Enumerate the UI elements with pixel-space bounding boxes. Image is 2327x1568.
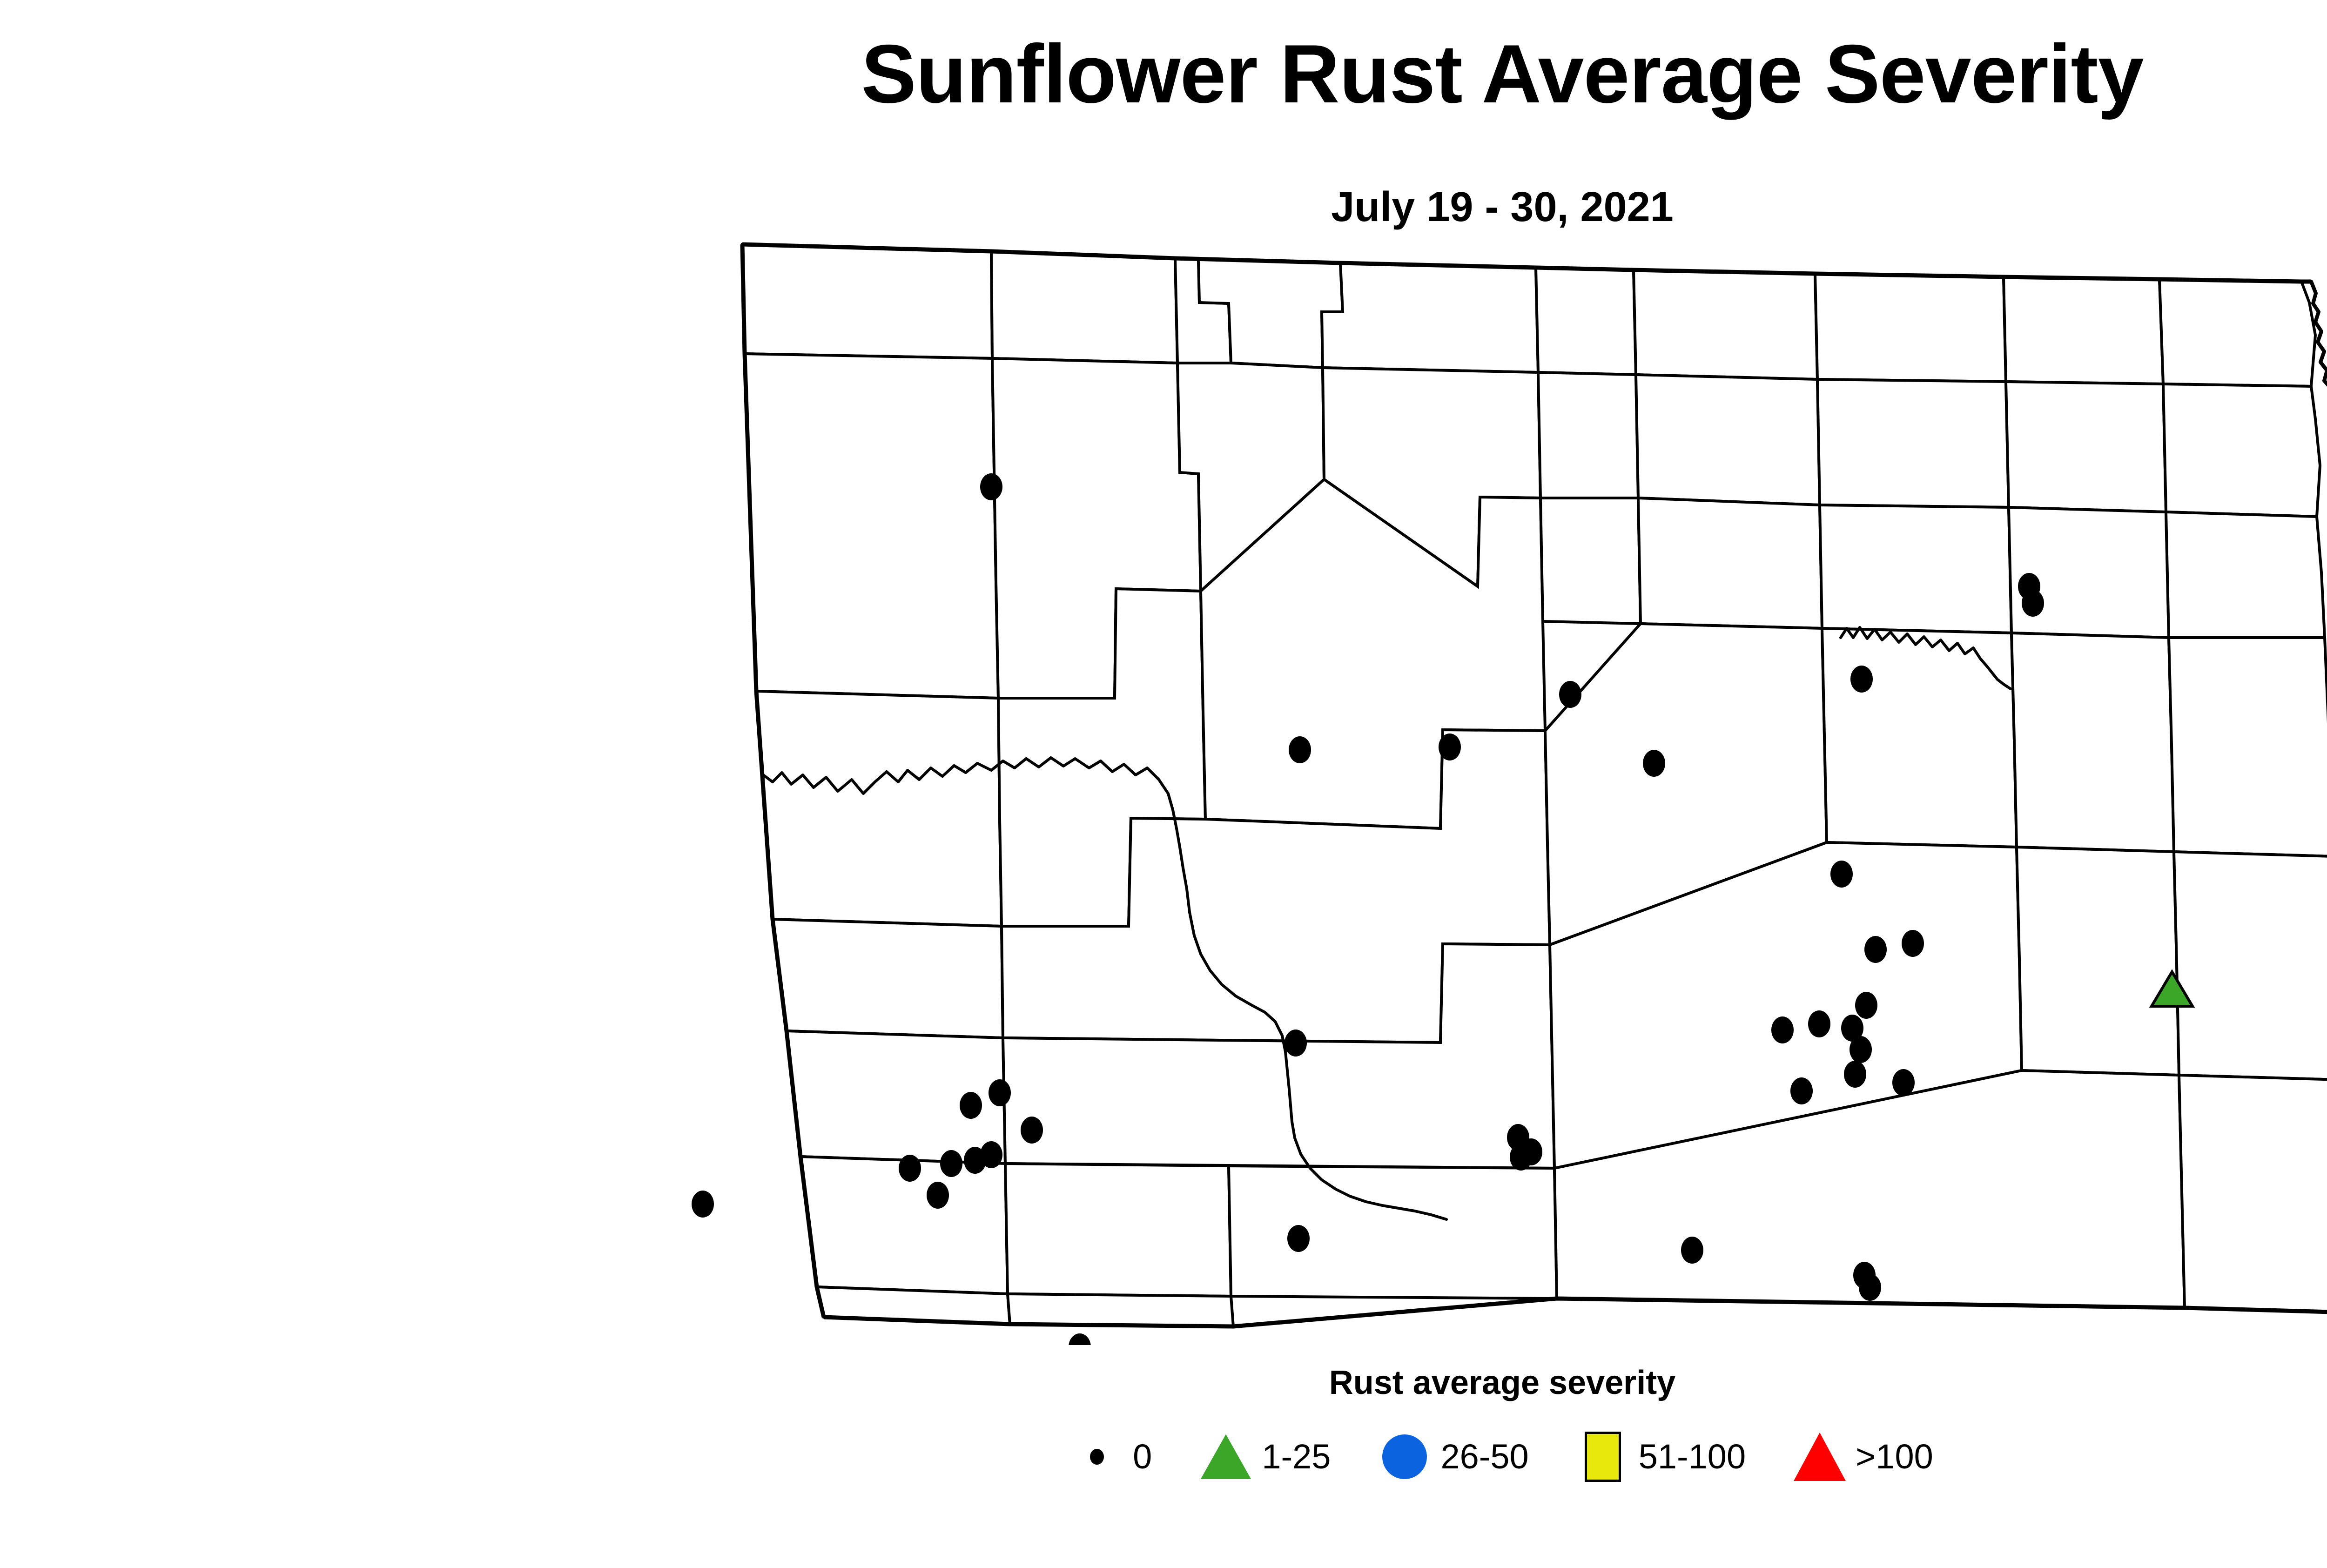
survey-point-0: [1849, 1036, 1872, 1063]
legend-label: 0: [1133, 1440, 1152, 1474]
legend-symbol: [1379, 1431, 1430, 1482]
map-svg: [0, 219, 2327, 1345]
legend-label: >100: [1856, 1440, 1933, 1474]
survey-point-0: [1439, 734, 1461, 760]
survey-point-0: [1681, 1237, 1703, 1264]
legend-item-26-50[interactable]: 26-50: [1379, 1431, 1528, 1482]
survey-point-0: [989, 1079, 1011, 1106]
survey-point-0: [692, 1191, 714, 1218]
survey-point-0: [940, 1150, 962, 1177]
legend-symbol: [1577, 1431, 1628, 1482]
legend-label: 1-25: [1262, 1440, 1331, 1474]
map-legend: Rust average severity 01-2526-5051-100>1…: [0, 1364, 2327, 1550]
survey-point-0: [1643, 750, 1665, 777]
legend-symbol: [1200, 1431, 1251, 1482]
blue-circle-icon: [1382, 1434, 1427, 1479]
yellow-square-icon: [1585, 1432, 1621, 1482]
black-dot-icon: [1090, 1449, 1104, 1465]
survey-point-0: [899, 1155, 921, 1182]
legend-items-row: 01-2526-5051-100>100: [0, 1431, 2327, 1482]
survey-point-0: [1520, 1138, 1542, 1165]
legend-item-51-100[interactable]: 51-100: [1577, 1431, 1746, 1482]
legend-item--100[interactable]: >100: [1794, 1431, 1933, 1482]
map-page: Sunflower Rust Average Severity July 19 …: [0, 0, 2327, 1568]
red-triangle-icon: [1794, 1433, 1846, 1481]
survey-point-0: [1864, 936, 1887, 963]
survey-point-0: [980, 473, 1002, 500]
legend-label: 26-50: [1440, 1440, 1528, 1474]
survey-point-0: [1287, 1225, 1310, 1252]
survey-point-0: [1850, 666, 1873, 693]
survey-point-0: [927, 1182, 949, 1209]
survey-point-0: [1559, 681, 1581, 708]
legend-symbol: [1071, 1431, 1123, 1482]
survey-point-0: [1289, 736, 1311, 763]
survey-point-0: [2022, 590, 2044, 617]
survey-point-0: [1859, 1274, 1881, 1301]
survey-point-0: [1069, 1333, 1091, 1345]
survey-point-0: [1790, 1077, 1813, 1104]
legend-title: Rust average severity: [0, 1364, 2327, 1402]
north-dakota-map: [0, 219, 2327, 1345]
survey-point-0: [980, 1141, 1002, 1168]
survey-point-0: [1844, 1061, 1866, 1088]
legend-label: 51-100: [1639, 1440, 1746, 1474]
survey-point-0: [1855, 992, 1877, 1019]
page-title: Sunflower Rust Average Severity: [0, 33, 2327, 115]
survey-point-0: [1285, 1030, 1307, 1057]
survey-point-0: [1830, 861, 1853, 888]
survey-point-0: [1771, 1016, 1794, 1043]
survey-point-0: [1808, 1010, 1830, 1037]
survey-point-0: [1902, 930, 1924, 957]
survey-point-0: [1021, 1117, 1043, 1144]
survey-point-0: [1892, 1069, 1915, 1096]
survey-point-0: [960, 1092, 982, 1119]
legend-item-1-25[interactable]: 1-25: [1200, 1431, 1331, 1482]
legend-item-0[interactable]: 0: [1071, 1431, 1152, 1482]
legend-symbol: [1794, 1431, 1845, 1482]
green-triangle-icon: [1201, 1434, 1251, 1479]
